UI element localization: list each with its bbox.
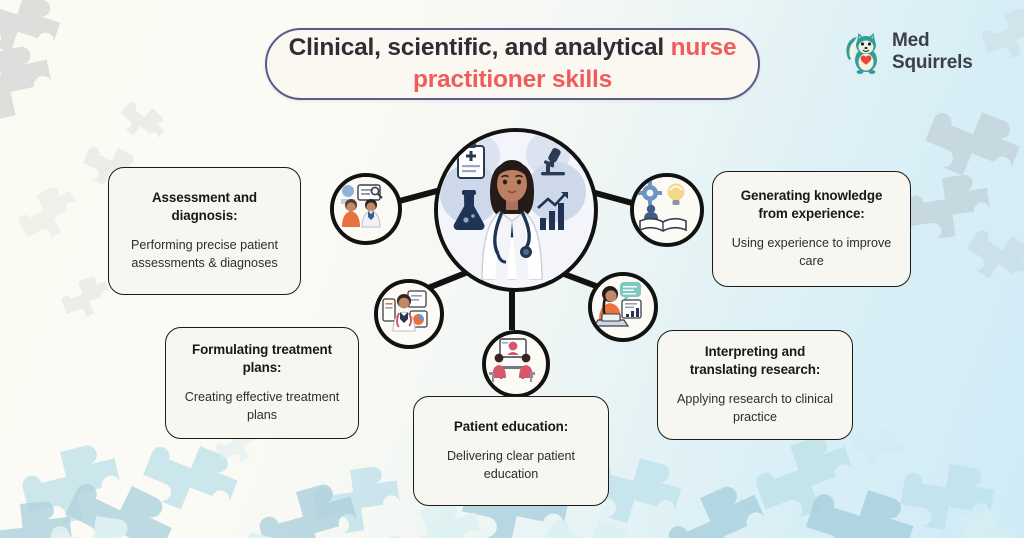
node-formulating-treatment-plans[interactable] xyxy=(374,279,444,349)
card-title: Interpreting and translating research: xyxy=(670,343,840,378)
page-title-lead: Clinical, scientific, and analytical xyxy=(289,34,671,61)
researcher-laptop-icon xyxy=(592,276,646,330)
hub-nurse-practitioner[interactable] xyxy=(434,128,598,292)
card-generating-knowledge[interactable]: Generating knowledge from experience: Us… xyxy=(712,171,911,287)
infographic-canvas: Clinical, scientific, and analytical nur… xyxy=(0,0,1024,538)
doctor-patient-consultation-icon xyxy=(334,177,390,233)
page-title: Clinical, scientific, and analytical nur… xyxy=(265,28,760,100)
gears-lightbulb-book-icon xyxy=(634,177,692,235)
patient-education-meeting-icon xyxy=(486,334,538,386)
brand-logo[interactable]: Med Squirrels xyxy=(845,30,973,75)
node-assessment-diagnosis[interactable] xyxy=(330,173,402,245)
node-generating-knowledge[interactable] xyxy=(630,173,704,247)
card-title: Formulating treatment plans: xyxy=(178,341,346,376)
card-description: Delivering clear patient education xyxy=(426,448,596,484)
card-description: Applying research to clinical practice xyxy=(670,391,840,427)
card-description: Performing precise patient assessments &… xyxy=(121,237,288,273)
card-interpreting-research[interactable]: Interpreting and translating research: A… xyxy=(657,330,853,440)
card-description: Using experience to improve care xyxy=(725,235,898,271)
brand-name-line1: Med xyxy=(892,30,973,52)
card-patient-education[interactable]: Patient education: Delivering clear pati… xyxy=(413,396,609,506)
card-description: Creating effective treatment plans xyxy=(178,389,346,425)
squirrel-mascot-logo-icon xyxy=(845,30,883,74)
brand-name-line2: Squirrels xyxy=(892,52,973,74)
card-assessment-diagnosis[interactable]: Assessment and diagnosis: Performing pre… xyxy=(108,167,301,295)
doctor-charts-icon xyxy=(378,283,432,337)
card-title: Generating knowledge from experience: xyxy=(725,187,898,222)
card-title: Patient education: xyxy=(454,418,568,436)
page-title-text: Clinical, scientific, and analytical nur… xyxy=(267,32,758,97)
nurse-practitioner-illustration-icon xyxy=(438,132,586,280)
node-interpreting-research[interactable] xyxy=(588,272,658,342)
brand-name: Med Squirrels xyxy=(892,30,973,75)
card-formulating-treatment-plans[interactable]: Formulating treatment plans: Creating ef… xyxy=(165,327,359,439)
card-title: Assessment and diagnosis: xyxy=(121,189,288,224)
node-patient-education[interactable] xyxy=(482,330,550,398)
